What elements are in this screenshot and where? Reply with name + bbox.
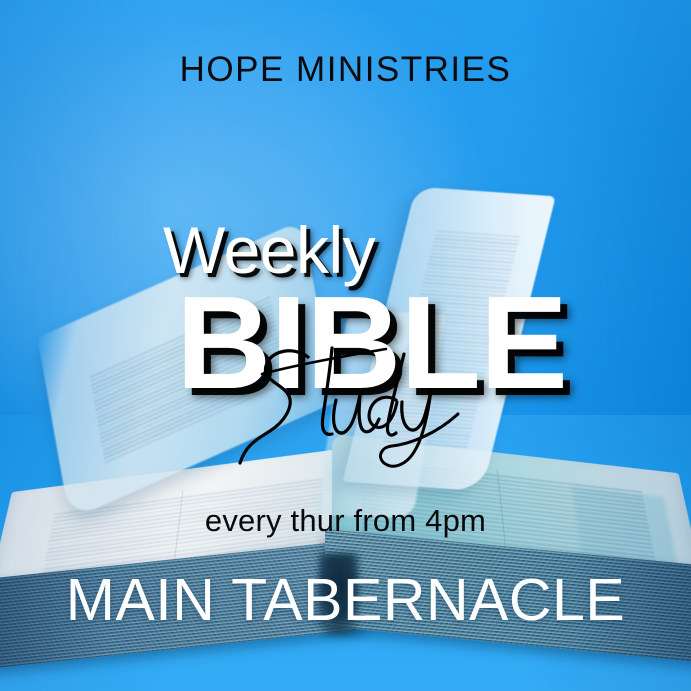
schedule-text: every thur from 4pm [0,503,691,539]
organization-name: HOPE MINISTRIES [0,50,691,90]
venue-name: MAIN TABERNACLE [0,566,691,634]
bible-study-flyer: HOPE MINISTRIES Weekly BIBLE [0,0,691,691]
flyer-text-layer: HOPE MINISTRIES Weekly BIBLE [0,0,691,691]
headline-bible: BIBLE [176,277,567,409]
